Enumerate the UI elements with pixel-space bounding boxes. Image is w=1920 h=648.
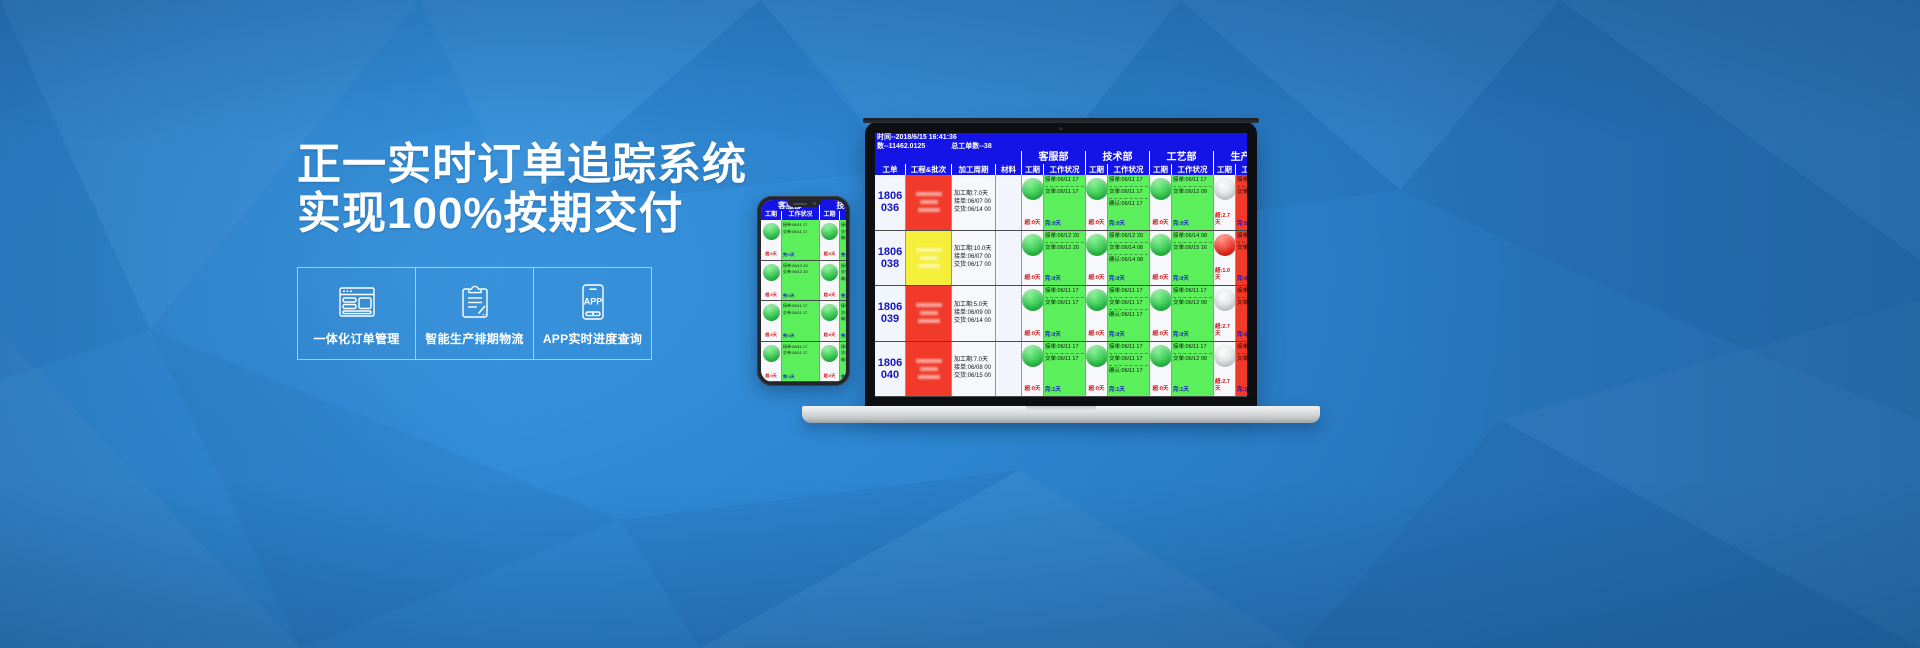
- overdue-tag: 超:0天: [1153, 275, 1169, 282]
- column-header: 工作状况: [1235, 164, 1247, 175]
- work-status-cell[interactable]: 接单:06/11 17交单:06/11 17确认:06/11 17完:1天: [1107, 342, 1149, 397]
- column-header: 工作状况: [1171, 164, 1213, 175]
- phone-duration-cell[interactable]: 超:0天: [819, 220, 839, 260]
- status-line: 交单:: [1237, 245, 1247, 252]
- laptop-lid: 时间--2018/6/15 16:41:36 数--11462.0125 总工单…: [865, 122, 1257, 409]
- duration-status-cell[interactable]: 超:0天: [1149, 175, 1171, 230]
- overdue-tag: 超:0天: [1089, 275, 1105, 282]
- overdue-tag: 超:0天: [1025, 331, 1041, 338]
- order-row[interactable]: 1806040加工期:7.0天接单:06/08 00交货:06/15 00超:0…: [875, 342, 1247, 398]
- duration-status-cell[interactable]: 超:0天: [1149, 342, 1171, 397]
- overdue-tag: 超:2.7天: [1215, 213, 1234, 227]
- status-line: 交单:: [1237, 189, 1247, 196]
- phone-status-line: 接单:06/11 17: [841, 303, 846, 309]
- status-indicator-grey-icon: [1214, 289, 1236, 311]
- status-indicator-green-icon: [1150, 234, 1172, 256]
- phone-order-row[interactable]: 超:0天接单:06/11 17交单:06/11 17完:0天超:0天接单:06/…: [761, 220, 846, 261]
- phone-duration-cell[interactable]: 超:0天: [819, 342, 839, 382]
- status-indicator-green-icon: [763, 264, 780, 281]
- completed-tag: 完:0天: [1109, 276, 1148, 283]
- dashboard-counters: 数--11462.0125 总工单数--38: [877, 143, 1245, 152]
- mobile-app-icon: APP: [540, 282, 645, 322]
- processing-cycle-cell: 加工期:10.0天接单:06/07 00交货:06/17 00: [951, 231, 995, 286]
- phone-duration-cell[interactable]: 超:0天: [761, 342, 781, 382]
- overdue-tag: 超:0天: [1025, 386, 1041, 393]
- duration-status-cell[interactable]: 超:2.7天: [1213, 342, 1235, 397]
- status-indicator-green-icon: [763, 345, 780, 362]
- status-indicator-green-icon: [1150, 345, 1172, 367]
- clipboard-checklist-icon: [422, 282, 527, 322]
- status-line: 接单:06/12 09: [1237, 288, 1247, 295]
- column-header: 工单: [875, 164, 905, 175]
- column-header: 工作状况: [1043, 164, 1085, 175]
- status-indicator-green-icon: [1086, 178, 1108, 200]
- project-batch-cell: [905, 286, 951, 341]
- phone-order-row[interactable]: 超:0天接单:06/11 17交单:06/11 17完:1天超:0天接单:06/…: [761, 342, 846, 383]
- status-indicator-green-icon: [1150, 178, 1172, 200]
- overdue-tag: 超:0天: [1089, 220, 1105, 227]
- completed-tag: 完:0天: [1109, 221, 1148, 228]
- department-header-row: 客服部技术部工艺部生产部跟单部: [875, 151, 1247, 164]
- status-line: 接单:06/11 17: [1173, 344, 1212, 351]
- duration-status-cell[interactable]: 超:0天: [1149, 231, 1171, 286]
- phone-work-status-cell[interactable]: 接单:06/11 17交单:06/11 17完:0天: [781, 301, 819, 341]
- status-line: 交单:06/11 17: [1045, 356, 1084, 363]
- completed-tag: 完:1天: [1173, 387, 1212, 394]
- department-spacer: [875, 151, 1021, 164]
- material-cell: [995, 175, 1021, 230]
- phone-overdue-tag: 超:0天: [765, 373, 777, 379]
- phone-status-line: 交单:06/11 17: [841, 310, 846, 316]
- status-indicator-green-icon: [1086, 289, 1108, 311]
- duration-status-cell[interactable]: 超:0天: [1021, 342, 1043, 397]
- column-header: 工期: [1149, 164, 1171, 175]
- status-indicator-green-icon: [1022, 345, 1044, 367]
- phone-status-line: 接单:06/11 17: [841, 344, 846, 350]
- feature-item-production-scheduling[interactable]: 智能生产排期物流: [416, 268, 534, 359]
- status-line: 交单:06/12 09: [1173, 300, 1212, 307]
- laptop-hinge: [863, 118, 1259, 123]
- dashboard-time-label: 时间--2018/6/15 16:41:36: [877, 134, 1245, 143]
- status-line: 接单:06/11 17: [1173, 177, 1212, 184]
- department-label-4: 生产部: [1213, 151, 1247, 164]
- phone-status-line: 接单:06/12 20: [783, 263, 818, 269]
- status-line: 交单:06/12 20: [1045, 245, 1084, 252]
- phone-completed-tag: 完:0天: [783, 333, 818, 339]
- status-line: 确认:06/11 17: [1109, 201, 1148, 208]
- phone-status-grid[interactable]: 超:0天接单:06/11 17交单:06/11 17完:0天超:0天接单:06/…: [761, 220, 846, 382]
- phone-completed-tag: 完:0天: [841, 293, 846, 299]
- overdue-tag: 超:0天: [1089, 386, 1105, 393]
- processing-cycle-cell: 加工期:5.0天接单:06/09 00交货:06/14 00: [951, 286, 995, 341]
- work-status-cell[interactable]: 接单:06/12 20交单:06/12 20完:0天: [1043, 231, 1085, 286]
- status-line: 确认:06/11 17: [1109, 312, 1148, 319]
- project-batch-cell: [905, 175, 951, 230]
- material-cell: [995, 286, 1021, 341]
- status-line: 交单:06/11 17: [1109, 356, 1148, 363]
- feature-list: 一体化订单管理 智能生产排期物流: [297, 267, 652, 360]
- status-indicator-green-icon: [821, 345, 838, 362]
- phone-status-line: 交单:06/11 17: [783, 350, 818, 356]
- department-label-3: 工艺部: [1149, 151, 1213, 164]
- phone-overdue-tag: 超:0天: [824, 332, 836, 338]
- work-status-cell[interactable]: 接单:06/11 17交单:06/11 17确认:06/11 17完:0天: [1107, 286, 1149, 341]
- column-header: 工作状况: [1107, 164, 1149, 175]
- work-status-cell[interactable]: 接单:06/12 09交单:完:0天: [1235, 175, 1247, 230]
- column-header: 加工周期: [951, 164, 995, 175]
- status-line: 交单:06/15 16: [1173, 245, 1212, 252]
- status-line: 接单:06/11 17: [1045, 288, 1084, 295]
- status-line: 接单:06/12 20: [1045, 233, 1084, 240]
- laptop-base: [802, 406, 1320, 423]
- order-number-cell: 1806036: [875, 175, 905, 230]
- completed-tag: 完:0天: [1045, 332, 1084, 339]
- order-tracking-dashboard: 时间--2018/6/15 16:41:36 数--11462.0125 总工单…: [875, 133, 1247, 397]
- work-status-cell[interactable]: 接单:06/15 16交单:完:0天: [1235, 231, 1247, 286]
- order-status-grid[interactable]: 1806036加工期:7.0天接单:06/07 00交货:06/14 00超:0…: [875, 175, 1247, 397]
- headline-line-1: 正一实时订单追踪系统: [297, 140, 917, 189]
- column-header: 工期: [1085, 164, 1107, 175]
- phone-overdue-tag: 超:0天: [824, 292, 836, 298]
- app-badge-text: APP: [583, 297, 602, 307]
- status-indicator-grey-icon: [1214, 345, 1236, 367]
- completed-tag: 完:0天: [1109, 332, 1148, 339]
- status-indicator-green-icon: [1022, 234, 1044, 256]
- status-line: 交单:06/11 17: [1109, 300, 1148, 307]
- phone-work-status-cell[interactable]: 接单:06/11 17交单:06/11 17确认:06/11 17完:0天: [839, 220, 846, 260]
- phone-notch: [787, 200, 821, 207]
- work-status-cell[interactable]: 接单:06/11 17交单:06/11 17完:1天: [1043, 342, 1085, 397]
- order-number-cell: 1806040: [875, 342, 905, 397]
- status-line: 确认:06/11 17: [1109, 368, 1148, 375]
- duration-status-cell[interactable]: 超:0天: [1085, 286, 1107, 341]
- phone-screen[interactable]: 客服部技术部 工期工作状况工期工作状况 超:0天接单:06/11 17交单:06…: [761, 200, 846, 382]
- status-line: 接单:06/12 20: [1109, 233, 1148, 240]
- phone-overdue-tag: 超:0天: [824, 373, 836, 379]
- status-indicator-green-icon: [1022, 289, 1044, 311]
- completed-tag: 完:1天: [1109, 387, 1148, 394]
- phone-device-mockup: 客服部技术部 工期工作状况工期工作状况 超:0天接单:06/11 17交单:06…: [757, 196, 850, 386]
- phone-overdue-tag: 超:0天: [765, 251, 777, 257]
- phone-completed-tag: 完:0天: [841, 333, 846, 339]
- status-line: 交单:06/11 17: [1045, 189, 1084, 196]
- status-line: 接单:06/11 17: [1045, 177, 1084, 184]
- status-line: 交单:06/11 17: [1045, 300, 1084, 307]
- phone-duration-cell[interactable]: 超:0天: [761, 261, 781, 301]
- column-header-row: 工单工程&批次加工周期材料工期工作状况工期工作状况工期工作状况工期工作状况工期工…: [875, 164, 1247, 175]
- completed-tag: 完:1天: [1045, 387, 1084, 394]
- phone-duration-cell[interactable]: 超:0天: [761, 301, 781, 341]
- status-line: 交单:06/11 17: [1109, 189, 1148, 196]
- status-indicator-green-icon: [821, 264, 838, 281]
- overdue-tag: 超:0天: [1089, 331, 1105, 338]
- duration-status-cell[interactable]: 超:0天: [1021, 175, 1043, 230]
- feature-item-order-management[interactable]: 一体化订单管理: [298, 268, 416, 359]
- phone-status-line: 交单:06/11 17: [841, 229, 846, 235]
- completed-tag: 完:0天: [1173, 221, 1212, 228]
- phone-work-status-cell[interactable]: 接单:06/12 20交单:06/12 20完:0天: [781, 261, 819, 301]
- phone-column-header: 工期: [819, 211, 839, 220]
- phone-completed-tag: 完:1天: [783, 374, 818, 380]
- laptop-device-mockup: 时间--2018/6/15 16:41:36 数--11462.0125 总工单…: [865, 122, 1257, 409]
- status-indicator-green-icon: [1150, 289, 1172, 311]
- work-status-cell[interactable]: 接单:06/12 09交单:完:1天: [1235, 342, 1247, 397]
- order-row[interactable]: 1806036加工期:7.0天接单:06/07 00交货:06/14 00超:0…: [875, 175, 1247, 231]
- phone-status-line: 接单:06/11 17: [783, 303, 818, 309]
- processing-cycle-cell: 加工期:7.0天接单:06/08 00交货:06/15 00: [951, 342, 995, 397]
- status-line: 交单:06/14 08: [1109, 245, 1148, 252]
- material-cell: [995, 342, 1021, 397]
- duration-status-cell[interactable]: 超:0天: [1021, 286, 1043, 341]
- status-line: 接单:06/12 09: [1237, 344, 1247, 351]
- status-indicator-green-icon: [763, 304, 780, 321]
- status-line: 交单:: [1237, 356, 1247, 363]
- feature-label: APP实时进度查询: [540, 330, 645, 347]
- overdue-tag: 超:0天: [1153, 220, 1169, 227]
- phone-status-line: 确认:06/14 08: [841, 276, 846, 282]
- phone-column-header-row: 工期工作状况工期工作状况: [761, 211, 846, 220]
- duration-status-cell[interactable]: 超:1.0天: [1213, 231, 1235, 286]
- laptop-screen[interactable]: 时间--2018/6/15 16:41:36 数--11462.0125 总工单…: [875, 133, 1247, 397]
- duration-status-cell[interactable]: 超:2.7天: [1213, 286, 1235, 341]
- feature-label: 一体化订单管理: [304, 330, 409, 347]
- status-line: 接单:06/11 17: [1109, 177, 1148, 184]
- status-indicator-green-icon: [821, 223, 838, 240]
- order-row[interactable]: 1806038加工期:10.0天接单:06/07 00交货:06/17 00超:…: [875, 231, 1247, 287]
- laptop-camera-icon: [1060, 127, 1063, 130]
- status-indicator-green-icon: [1086, 234, 1108, 256]
- phone-completed-tag: 完:1天: [841, 374, 846, 380]
- phone-order-row[interactable]: 超:0天接单:06/11 17交单:06/11 17完:0天超:0天接单:06/…: [761, 301, 846, 342]
- phone-work-status-cell[interactable]: 接单:06/11 17交单:06/11 17完:0天: [781, 220, 819, 260]
- phone-status-line: 交单:06/11 17: [783, 229, 818, 235]
- status-line: 接单:06/14 08: [1173, 233, 1212, 240]
- phone-status-line: 接单:06/12 20: [841, 263, 846, 269]
- work-status-cell[interactable]: 接单:06/11 17交单:06/11 17完:0天: [1043, 286, 1085, 341]
- overdue-tag: 超:0天: [1153, 386, 1169, 393]
- feature-label: 智能生产排期物流: [422, 330, 527, 347]
- status-indicator-green-icon: [821, 304, 838, 321]
- column-header: 材料: [995, 164, 1021, 175]
- phone-column-header: 工作状况: [839, 211, 846, 220]
- duration-status-cell[interactable]: 超:0天: [1149, 286, 1171, 341]
- status-line: 交单:06/12 09: [1173, 356, 1212, 363]
- phone-status-line: 交单:06/12 20: [783, 269, 818, 275]
- status-line: 接单:06/11 17: [1045, 344, 1084, 351]
- phone-column-header: 工期: [761, 211, 781, 220]
- status-indicator-green-icon: [1022, 178, 1044, 200]
- work-status-cell[interactable]: 接单:06/11 17交单:06/12 09完:0天: [1171, 286, 1213, 341]
- phone-status-line: 交单:06/14 08: [841, 269, 846, 275]
- feature-item-app-progress-query[interactable]: APP APP实时进度查询: [534, 268, 651, 359]
- phone-duration-cell[interactable]: 超:0天: [819, 301, 839, 341]
- column-header: 工期: [1213, 164, 1235, 175]
- dashboard-total-orders-label: 总工单数--38: [951, 143, 991, 152]
- status-line: 确认:06/14 08: [1109, 257, 1148, 264]
- phone-completed-tag: 完:0天: [783, 252, 818, 258]
- status-indicator-green-icon: [763, 223, 780, 240]
- phone-completed-tag: 完:0天: [783, 293, 818, 299]
- window-layout-icon: [304, 282, 409, 322]
- status-line: 接单:06/11 17: [1109, 288, 1148, 295]
- work-status-cell[interactable]: 接单:06/12 20交单:06/14 08确认:06/14 08完:0天: [1107, 231, 1149, 286]
- status-indicator-green-icon: [1086, 345, 1108, 367]
- phone-status-line: 交单:06/11 17: [783, 310, 818, 316]
- status-line: 交单:06/12 09: [1173, 189, 1212, 196]
- status-line: 接单:06/15 16: [1237, 233, 1247, 240]
- phone-status-line: 确认:06/11 17: [841, 357, 846, 363]
- overdue-tag: 超:2.7天: [1215, 324, 1234, 338]
- phone-status-line: 接单:06/11 17: [841, 222, 846, 228]
- completed-tag: 完:0天: [1237, 221, 1247, 228]
- phone-department-label: 技术部: [819, 200, 846, 211]
- completed-tag: 完:0天: [1237, 332, 1247, 339]
- duration-status-cell[interactable]: 超:0天: [1085, 175, 1107, 230]
- overdue-tag: 超:2.7天: [1215, 379, 1234, 393]
- phone-status-line: 接单:06/11 17: [783, 222, 818, 228]
- completed-tag: 完:0天: [1173, 276, 1212, 283]
- phone-column-header: 工作状况: [781, 211, 819, 220]
- phone-duration-cell[interactable]: 超:0天: [761, 220, 781, 260]
- phone-status-line: 确认:06/11 17: [841, 316, 846, 322]
- order-row[interactable]: 1806039加工期:5.0天接单:06/09 00交货:06/14 00超:0…: [875, 286, 1247, 342]
- order-number-cell: 1806039: [875, 286, 905, 341]
- phone-status-line: 确认:06/11 17: [841, 235, 846, 241]
- dashboard-status-header: 时间--2018/6/15 16:41:36 数--11462.0125 总工单…: [875, 133, 1247, 151]
- phone-work-status-cell[interactable]: 接单:06/11 17交单:06/11 17确认:06/11 17完:0天: [839, 301, 846, 341]
- status-indicator-red-icon: [1214, 234, 1236, 256]
- duration-status-cell[interactable]: 超:2.7天: [1213, 175, 1235, 230]
- work-status-cell[interactable]: 接单:06/11 17交单:06/12 09完:1天: [1171, 342, 1213, 397]
- work-status-cell[interactable]: 接单:06/12 09交单:完:0天: [1235, 286, 1247, 341]
- status-indicator-grey-icon: [1214, 178, 1236, 200]
- duration-status-cell[interactable]: 超:0天: [1085, 342, 1107, 397]
- completed-tag: 完:0天: [1045, 276, 1084, 283]
- completed-tag: 完:0天: [1045, 221, 1084, 228]
- work-status-cell[interactable]: 接单:06/14 08交单:06/15 16完:0天: [1171, 231, 1213, 286]
- status-line: 接单:06/12 09: [1237, 177, 1247, 184]
- phone-status-line: 接单:06/11 17: [783, 344, 818, 350]
- phone-completed-tag: 完:0天: [841, 252, 846, 258]
- phone-order-row[interactable]: 超:0天接单:06/12 20交单:06/12 20完:0天超:0天接单:06/…: [761, 261, 846, 302]
- phone-work-status-cell[interactable]: 接单:06/12 20交单:06/14 08确认:06/14 08完:0天: [839, 261, 846, 301]
- phone-overdue-tag: 超:0天: [824, 251, 836, 257]
- duration-status-cell[interactable]: 超:0天: [1021, 231, 1043, 286]
- material-cell: [995, 231, 1021, 286]
- status-line: 交单:: [1237, 300, 1247, 307]
- column-header: 工期: [1021, 164, 1043, 175]
- status-line: 接单:06/11 17: [1173, 288, 1212, 295]
- order-number-cell: 1806038: [875, 231, 905, 286]
- laptop-base-notch: [1026, 406, 1096, 412]
- overdue-tag: 超:0天: [1025, 275, 1041, 282]
- department-label-2: 技术部: [1085, 151, 1149, 164]
- phone-overdue-tag: 超:0天: [765, 332, 777, 338]
- overdue-tag: 超:0天: [1025, 220, 1041, 227]
- duration-status-cell[interactable]: 超:0天: [1085, 231, 1107, 286]
- completed-tag: 完:0天: [1173, 332, 1212, 339]
- dashboard-count-label: 数--11462.0125: [877, 143, 925, 152]
- work-status-cell[interactable]: 接单:06/11 17交单:06/11 17完:0天: [1043, 175, 1085, 230]
- status-line: 接单:06/11 17: [1109, 344, 1148, 351]
- project-batch-cell: [905, 231, 951, 286]
- column-header: 工程&批次: [905, 164, 951, 175]
- overdue-tag: 超:0天: [1153, 331, 1169, 338]
- work-status-cell[interactable]: 接单:06/11 17交单:06/12 09完:0天: [1171, 175, 1213, 230]
- phone-overdue-tag: 超:0天: [765, 292, 777, 298]
- phone-status-line: 交单:06/11 17: [841, 350, 846, 356]
- work-status-cell[interactable]: 接单:06/11 17交单:06/11 17确认:06/11 17完:0天: [1107, 175, 1149, 230]
- completed-tag: 完:0天: [1237, 276, 1247, 283]
- phone-dashboard: 客服部技术部 工期工作状况工期工作状况 超:0天接单:06/11 17交单:06…: [761, 200, 846, 382]
- overdue-tag: 超:1.0天: [1215, 268, 1234, 282]
- department-label-1: 客服部: [1021, 151, 1085, 164]
- phone-work-status-cell[interactable]: 接单:06/11 17交单:06/11 17确认:06/11 17完:1天: [839, 342, 846, 382]
- project-batch-cell: [905, 342, 951, 397]
- phone-work-status-cell[interactable]: 接单:06/11 17交单:06/11 17完:1天: [781, 342, 819, 382]
- completed-tag: 完:1天: [1237, 387, 1247, 394]
- processing-cycle-cell: 加工期:7.0天接单:06/07 00交货:06/14 00: [951, 175, 995, 230]
- phone-duration-cell[interactable]: 超:0天: [819, 261, 839, 301]
